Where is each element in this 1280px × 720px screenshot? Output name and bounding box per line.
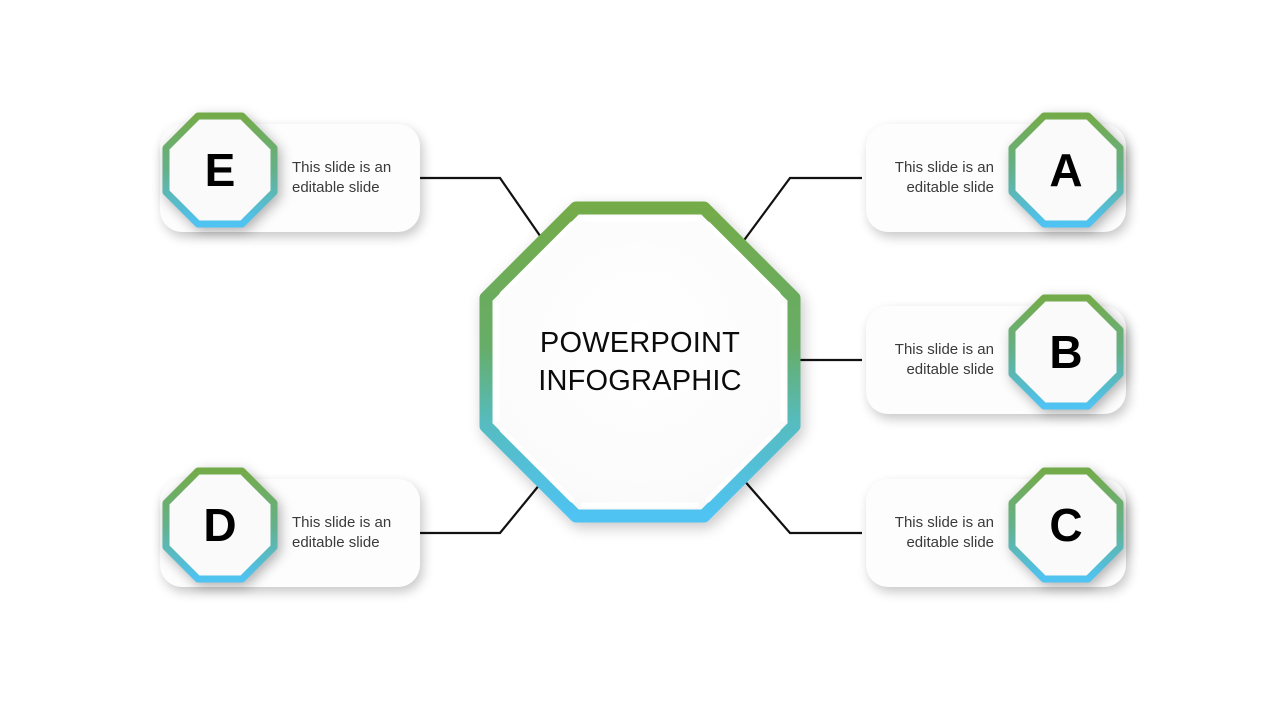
node-b-letter: B: [1008, 294, 1124, 410]
node-d-badge[interactable]: D: [162, 467, 278, 583]
node-e-letter: E: [162, 112, 278, 228]
node-e[interactable]: This slide is an editable slide E: [160, 124, 420, 232]
node-d-text: This slide is an editable slide: [292, 513, 391, 553]
node-d-letter: D: [162, 467, 278, 583]
node-c-badge[interactable]: C: [1008, 467, 1124, 583]
node-c-letter: C: [1008, 467, 1124, 583]
node-b[interactable]: This slide is an editable slide B: [866, 306, 1126, 414]
node-d[interactable]: This slide is an editable slide D: [160, 479, 420, 587]
node-b-text: This slide is an editable slide: [880, 340, 994, 380]
node-c-text: This slide is an editable slide: [880, 513, 994, 553]
infographic-slide: POWERPOINT INFOGRAPHIC This slide is an …: [0, 0, 1280, 720]
node-a-text: This slide is an editable slide: [880, 158, 994, 198]
node-a-letter: A: [1008, 112, 1124, 228]
node-e-badge[interactable]: E: [162, 112, 278, 228]
node-e-text: This slide is an editable slide: [292, 158, 391, 198]
node-a-badge[interactable]: A: [1008, 112, 1124, 228]
node-a[interactable]: This slide is an editable slide A: [866, 124, 1126, 232]
node-c[interactable]: This slide is an editable slide C: [866, 479, 1126, 587]
center-title: POWERPOINT INFOGRAPHIC: [480, 202, 800, 522]
node-b-badge[interactable]: B: [1008, 294, 1124, 410]
center-octagon[interactable]: POWERPOINT INFOGRAPHIC: [480, 202, 800, 522]
